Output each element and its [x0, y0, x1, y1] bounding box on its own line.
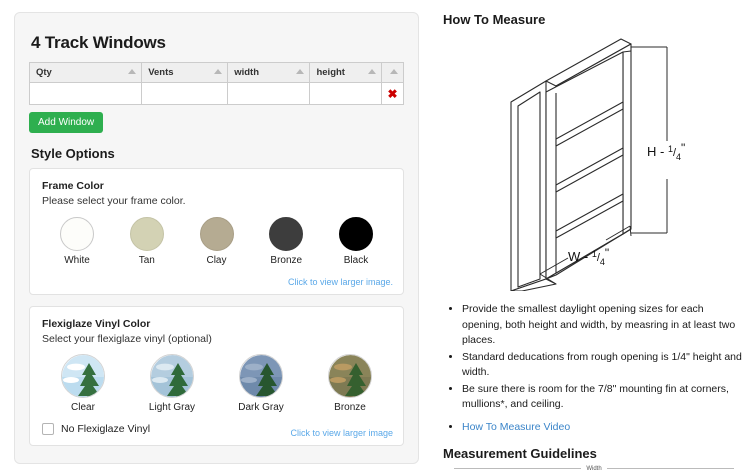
pine-tree-scene-icon — [151, 355, 194, 398]
frame-color-subtext: Please select your frame color. — [42, 195, 391, 207]
width-inch-mark: " — [605, 246, 609, 260]
sort-ascending-icon[interactable] — [390, 69, 398, 74]
vinyl-swatch-bronze[interactable]: Bronze — [315, 354, 385, 413]
list-item-video-link[interactable]: How To Measure Video — [462, 420, 745, 436]
list-item: Standard deducations from rough opening … — [462, 350, 745, 381]
vinyl-swatch-bronze-image[interactable] — [328, 354, 372, 398]
cell-width[interactable] — [228, 83, 310, 105]
height-inch-mark: " — [681, 141, 685, 155]
style-options-heading: Style Options — [31, 146, 404, 161]
column-header-qty[interactable]: Qty — [30, 63, 142, 83]
cell-qty[interactable] — [30, 83, 142, 105]
sort-ascending-icon[interactable] — [128, 69, 136, 74]
vinyl-color-subtext: Select your flexiglaze vinyl (optional) — [42, 333, 391, 345]
frame-swatch-tan-label: Tan — [116, 255, 178, 266]
vinyl-color-card: Flexiglaze Vinyl Color Select your flexi… — [29, 306, 404, 446]
page-root: 4 Track Windows Qty Vents width — [0, 0, 750, 472]
column-header-vents-label: Vents — [148, 67, 173, 78]
height-dimension-label: H - 1/4" — [647, 141, 685, 162]
width-axis-label-bar: Width — [454, 464, 734, 472]
frame-color-swatch-row: White Tan Clay Bronze Black — [42, 211, 391, 266]
vinyl-swatch-light-gray[interactable]: Light Gray — [137, 354, 207, 413]
windows-table: Qty Vents width height — [29, 62, 404, 105]
pine-tree-scene-icon — [240, 355, 283, 398]
sort-ascending-icon[interactable] — [214, 69, 222, 74]
column-header-width[interactable]: width — [228, 63, 310, 83]
measurement-guidelines-title: Measurement Guidelines — [443, 446, 745, 461]
frame-color-larger-image-link[interactable]: Click to view larger image. — [288, 277, 393, 287]
frame-color-heading: Frame Color — [42, 180, 391, 192]
measurement-bullet-list: Provide the smallest daylight opening si… — [440, 302, 745, 435]
axis-rule-right — [607, 468, 734, 469]
vinyl-swatch-clear-label: Clear — [48, 402, 118, 413]
frame-color-card: Frame Color Please select your frame col… — [29, 168, 404, 295]
frame-swatch-clay[interactable]: Clay — [186, 217, 248, 266]
page-title: 4 Track Windows — [31, 33, 404, 53]
column-header-height[interactable]: height — [310, 63, 381, 83]
sort-ascending-icon[interactable] — [368, 69, 376, 74]
frame-swatch-bronze[interactable]: Bronze — [255, 217, 317, 266]
vinyl-swatch-light-gray-label: Light Gray — [137, 402, 207, 413]
frame-swatch-white[interactable]: White — [46, 217, 108, 266]
width-axis-label: Width — [581, 466, 606, 472]
width-label-main: W - — [568, 249, 592, 264]
cell-vents[interactable] — [142, 83, 228, 105]
no-vinyl-checkbox[interactable] — [42, 423, 54, 435]
table-header-row: Qty Vents width height — [30, 63, 404, 83]
frame-swatch-clay-dot[interactable] — [200, 217, 234, 251]
cell-height[interactable] — [310, 83, 381, 105]
frame-swatch-tan[interactable]: Tan — [116, 217, 178, 266]
column-header-width-label: width — [234, 67, 259, 78]
vinyl-swatch-dark-gray-image[interactable] — [239, 354, 283, 398]
list-item: Provide the smallest daylight opening si… — [462, 302, 745, 349]
how-to-measure-panel: How To Measure — [440, 8, 745, 468]
column-header-vents[interactable]: Vents — [142, 63, 228, 83]
vinyl-swatch-bronze-label: Bronze — [315, 402, 385, 413]
column-header-qty-label: Qty — [36, 67, 52, 78]
frame-swatch-white-dot[interactable] — [60, 217, 94, 251]
frame-swatch-bronze-label: Bronze — [255, 255, 317, 266]
vinyl-color-swatch-row: Clear — [42, 349, 391, 413]
width-dimension-label: W - 1/4" — [568, 246, 609, 267]
vinyl-color-heading: Flexiglaze Vinyl Color — [42, 318, 391, 330]
measurement-guidelines-table-wrap: Width Inches 24 30 36 42 48 54 60 — [454, 464, 734, 472]
vinyl-swatch-clear-image[interactable] — [61, 354, 105, 398]
frame-swatch-tan-dot[interactable] — [130, 217, 164, 251]
vinyl-swatch-clear[interactable]: Clear — [48, 354, 118, 413]
sort-ascending-icon[interactable] — [296, 69, 304, 74]
window-measurement-diagram: H - 1/4" W - 1/4" — [440, 29, 745, 296]
height-label-main: H - — [647, 144, 668, 159]
delete-row-icon[interactable]: ✖ — [388, 88, 398, 100]
window-configurator-panel: 4 Track Windows Qty Vents width — [14, 12, 419, 464]
how-to-measure-title: How To Measure — [443, 12, 745, 27]
column-header-delete[interactable] — [381, 63, 403, 83]
frame-swatch-clay-label: Clay — [186, 255, 248, 266]
no-vinyl-checkbox-label: No Flexiglaze Vinyl — [61, 423, 150, 435]
pine-tree-scene-icon — [62, 355, 105, 398]
vinyl-swatch-dark-gray-label: Dark Gray — [226, 402, 296, 413]
how-to-measure-video-link[interactable]: How To Measure Video — [462, 421, 570, 433]
axis-rule-left — [454, 468, 581, 469]
vinyl-swatch-dark-gray[interactable]: Dark Gray — [226, 354, 296, 413]
vinyl-color-larger-image-link[interactable]: Click to view larger image — [290, 428, 393, 438]
add-window-button[interactable]: Add Window — [29, 112, 103, 133]
frame-swatch-white-label: White — [46, 255, 108, 266]
vinyl-swatch-light-gray-image[interactable] — [150, 354, 194, 398]
table-row: ✖ — [30, 83, 404, 105]
isometric-window-drawing: H - 1/4" W - 1/4" — [440, 29, 745, 291]
list-item: Be sure there is room for the 7/8" mount… — [462, 382, 745, 413]
cell-delete[interactable]: ✖ — [381, 83, 403, 105]
pine-tree-scene-icon — [329, 355, 372, 398]
frame-swatch-black[interactable]: Black — [325, 217, 387, 266]
frame-swatch-bronze-dot[interactable] — [269, 217, 303, 251]
column-header-height-label: height — [316, 67, 345, 78]
frame-swatch-black-dot[interactable] — [339, 217, 373, 251]
frame-swatch-black-label: Black — [325, 255, 387, 266]
